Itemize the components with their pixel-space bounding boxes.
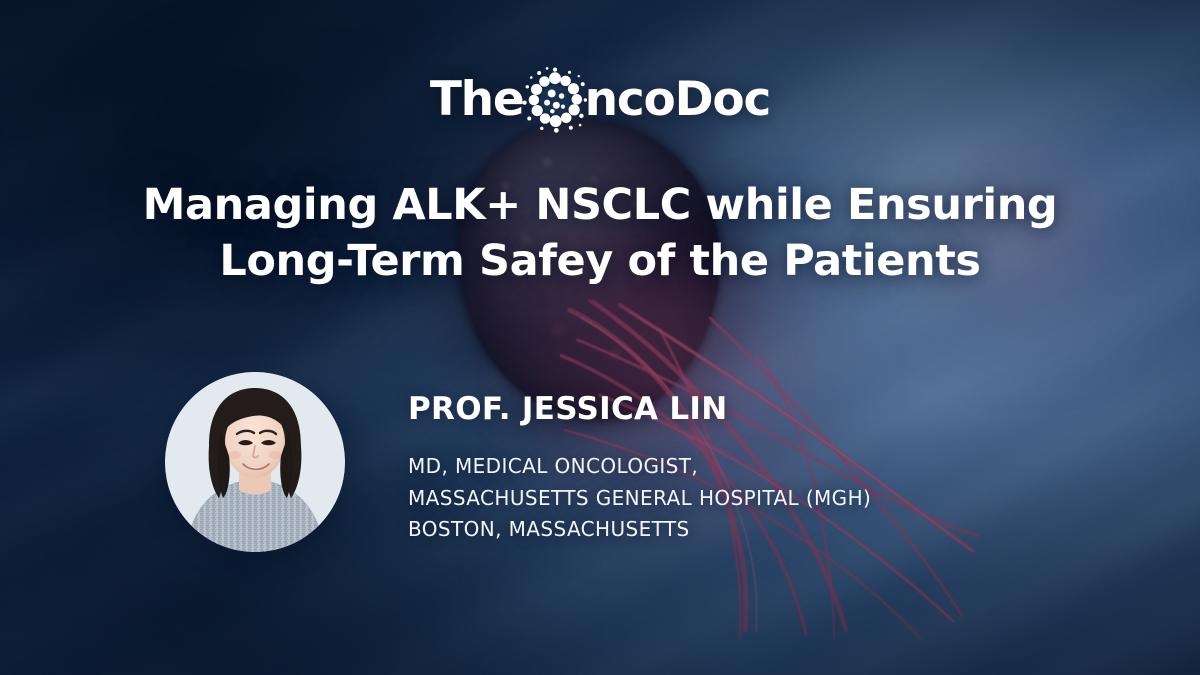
brand-logo-text-the: The xyxy=(430,76,524,123)
speaker-credentials: MD, MEDICAL ONCOLOGIST, MASSACHUSETTS GE… xyxy=(408,451,1048,546)
brand-logo[interactable]: The xyxy=(0,66,1200,132)
cell-cluster-icon xyxy=(522,67,588,133)
speaker-credential-line-3: BOSTON, MASSACHUSETTS xyxy=(408,514,1048,546)
speaker-block: PROF. JESSICA LIN MD, MEDICAL ONCOLOGIST… xyxy=(408,392,1048,546)
slide-title-line-1: Managing ALK+ NSCLC while Ensuring xyxy=(60,178,1140,234)
speaker-credential-line-1: MD, MEDICAL ONCOLOGIST, xyxy=(408,451,1048,483)
slide-content: The xyxy=(0,0,1200,675)
slide-title: Managing ALK+ NSCLC while Ensuring Long-… xyxy=(60,178,1140,290)
speaker-credential-line-2: MASSACHUSETTS GENERAL HOSPITAL (MGH) xyxy=(408,483,1048,515)
slide-canvas: The xyxy=(0,0,1200,675)
slide-title-line-2: Long-Term Safey of the Patients xyxy=(60,234,1140,290)
speaker-name: PROF. JESSICA LIN xyxy=(408,392,1048,426)
brand-logo-text-oncodoc: ncoDoc xyxy=(585,76,771,123)
avatar xyxy=(165,372,345,552)
